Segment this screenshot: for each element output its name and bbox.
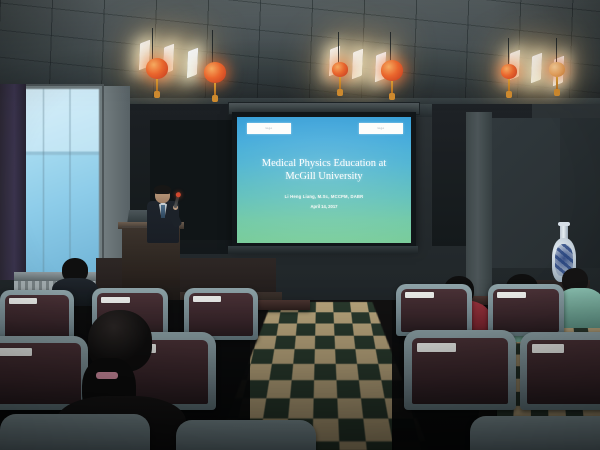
slide-logo-left: logo [247, 123, 291, 134]
slide-title-line-1: Medical Physics Education at [245, 157, 403, 170]
slide-surface: logo logo Medical Physics Education at M… [237, 117, 411, 243]
seat-number-plate [101, 297, 130, 303]
seat[interactable] [396, 284, 472, 336]
seat-number-plate [497, 292, 526, 298]
lantern-wire [212, 30, 213, 64]
hair-tie [96, 372, 118, 379]
seat-number-plate [405, 292, 434, 298]
slide-title-line-2: McGill University [245, 170, 403, 183]
lantern-6 [549, 62, 565, 77]
seat-number-plate [193, 296, 221, 302]
seat-number-plate [417, 343, 455, 352]
presenter [146, 186, 180, 242]
fluorescent-tube-icon [187, 48, 198, 79]
seat-number-plate [532, 344, 565, 353]
seat-number-plate [0, 348, 32, 356]
window-glass [21, 89, 99, 273]
lecture-hall-scene: logo logo Medical Physics Education at M… [0, 0, 600, 450]
seat-number-plate [9, 298, 37, 304]
seat[interactable] [0, 414, 150, 450]
slide-title: Medical Physics Education at McGill Univ… [245, 157, 403, 183]
fluorescent-tube-icon [531, 53, 542, 84]
lantern-3 [332, 62, 348, 77]
glasses-icon [156, 192, 169, 196]
slide-logo-right-label: logo [359, 123, 403, 134]
seat[interactable] [520, 332, 600, 410]
lantern-wire [338, 32, 339, 66]
presenter-tie [161, 205, 165, 218]
projector-screen-bottom-bar [228, 246, 418, 254]
window [18, 86, 102, 276]
lantern-5 [501, 64, 517, 79]
seat[interactable] [0, 290, 74, 342]
fluorescent-tube-icon [352, 49, 363, 80]
seat[interactable] [470, 416, 600, 450]
seat[interactable] [176, 420, 316, 450]
slide-presenter: Li Heng Liang, M.Sc, MCCPM, DABR [245, 193, 403, 201]
lantern-wire [152, 28, 153, 60]
lantern-2 [204, 62, 226, 83]
slide-date: April 14, 2017 [245, 203, 403, 211]
seat[interactable] [488, 284, 564, 336]
seat[interactable] [404, 330, 516, 410]
lantern-1 [146, 58, 168, 79]
slide-logo-right: logo [359, 123, 403, 134]
projection-screen: logo logo Medical Physics Education at M… [232, 112, 416, 248]
slide-logo-left-label: logo [247, 123, 291, 134]
lantern-4 [381, 60, 403, 81]
curtain [0, 84, 26, 280]
vase-lip [558, 222, 570, 226]
